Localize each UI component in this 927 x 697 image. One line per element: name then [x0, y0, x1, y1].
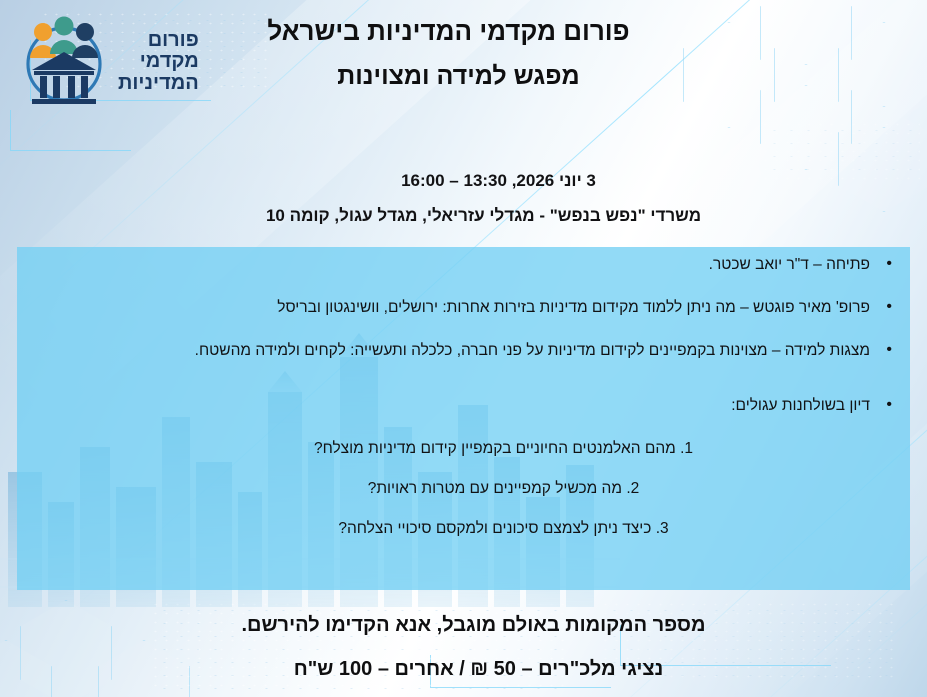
forum-logo-mark-icon	[18, 14, 110, 110]
event-meta: 3 יוני 2026, 13:30 – 16:00 משרדי "נפש בנ…	[0, 172, 927, 224]
data-dots	[760, 120, 920, 180]
logo-text-line-2: מקדמי	[118, 51, 199, 73]
forum-logo: פורום מקדמי המדיניות	[18, 8, 218, 116]
roundtable-question: 2. מה מכשיל קמפיינים עם מטרות ראויות?	[31, 480, 896, 498]
agenda-bullet-list: פתיחה – ד"ר יואב שכטר. פרופ' מאיר פוגטש …	[31, 256, 896, 415]
logo-text-line-1: פורום	[118, 30, 199, 52]
event-poster: פורום מקדמי המדיניות בישראל מפגש למידה ו…	[0, 0, 927, 697]
forum-logo-text: פורום מקדמי המדיניות	[118, 30, 199, 95]
roundtable-heading: דיון בשולחנות עגולים:	[31, 397, 896, 415]
classical-building-icon	[32, 52, 96, 104]
seats-notice: מספר המקומות באולם מוגבל, אנא הקדימו להי…	[0, 615, 927, 635]
agenda-item: פתיחה – ד"ר יואב שכטר.	[31, 256, 896, 274]
pricing-notice: נציגי מלכ"רים – 50 ₪ / אחרים – 100 ש"ח	[0, 659, 927, 679]
agenda-item: מצגות למידה – מצוינות בקמפיינים לקידום מ…	[31, 342, 896, 360]
logo-text-line-3: המדיניות	[118, 73, 199, 95]
agenda-content: פתיחה – ד"ר יואב שכטר. פרופ' מאיר פוגטש …	[17, 247, 910, 590]
poster-footer: מספר המקומות באולם מוגבל, אנא הקדימו להי…	[0, 615, 927, 679]
circuit-trace	[10, 110, 131, 151]
event-datetime: 3 יוני 2026, 13:30 – 16:00	[0, 172, 927, 189]
roundtable-question: 3. כיצד ניתן לצמצם סיכונים ולמקסם סיכויי…	[31, 520, 896, 538]
agenda-item: פרופ' מאיר פוגטש – מה ניתן ללמוד מקידום …	[31, 299, 896, 317]
roundtable-question-list: 1. מהם האלמנטים החיוניים בקמפיין קידום מ…	[31, 440, 896, 537]
event-venue: משרדי "נפש בנפש" - מגדלי עזריאלי, מגדל ע…	[0, 207, 927, 224]
people-group-icon	[30, 17, 98, 59]
roundtable-question: 1. מהם האלמנטים החיוניים בקמפיין קידום מ…	[31, 440, 896, 458]
